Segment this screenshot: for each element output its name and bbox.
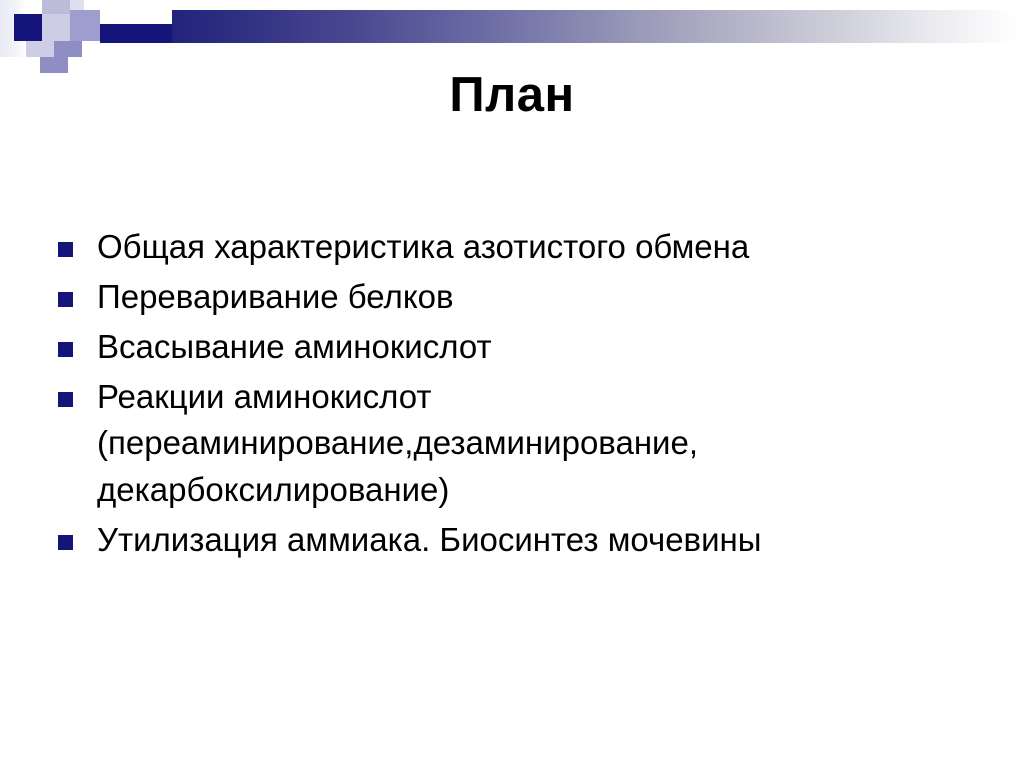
tile-top-right-pale: [70, 0, 84, 10]
list-item: Всасывание аминокислот: [58, 324, 958, 371]
gradient-band-icon: [172, 10, 1024, 43]
tile-low-light: [26, 41, 54, 57]
list-item-label: Всасывание аминокислот: [97, 324, 958, 371]
square-bullet-icon: [58, 392, 73, 407]
square-bullet-icon: [58, 535, 73, 550]
slide: План Общая характеристика азотистого обм…: [0, 0, 1024, 767]
list-item-label: Общая характеристика азотистого обмена: [97, 224, 958, 271]
tile-low-mid: [54, 41, 82, 57]
list-item: Переваривание белков: [58, 274, 958, 321]
tile-mid-midlite: [70, 10, 100, 41]
header-decoration: [0, 0, 1024, 70]
list-item-label: Реакции аминокислот (переаминирование,де…: [97, 374, 958, 515]
bullet-list: Общая характеристика азотистого обменаПе…: [58, 224, 958, 567]
tile-band-join: [100, 24, 172, 43]
list-item: Утилизация аммиака. Биосинтез мочевины: [58, 517, 958, 564]
list-item: Реакции аминокислот (переаминирование,де…: [58, 374, 958, 515]
list-item: Общая характеристика азотистого обмена: [58, 224, 958, 271]
square-bullet-icon: [58, 242, 73, 257]
tile-navy-square: [14, 14, 42, 41]
square-bullet-icon: [58, 292, 73, 307]
tile-top-light: [42, 0, 70, 14]
list-item-label: Переваривание белков: [97, 274, 958, 321]
tile-mid-lighter: [42, 14, 70, 41]
list-item-label: Утилизация аммиака. Биосинтез мочевины: [97, 517, 958, 564]
square-bullet-icon: [58, 342, 73, 357]
page-title: План: [0, 70, 1024, 121]
